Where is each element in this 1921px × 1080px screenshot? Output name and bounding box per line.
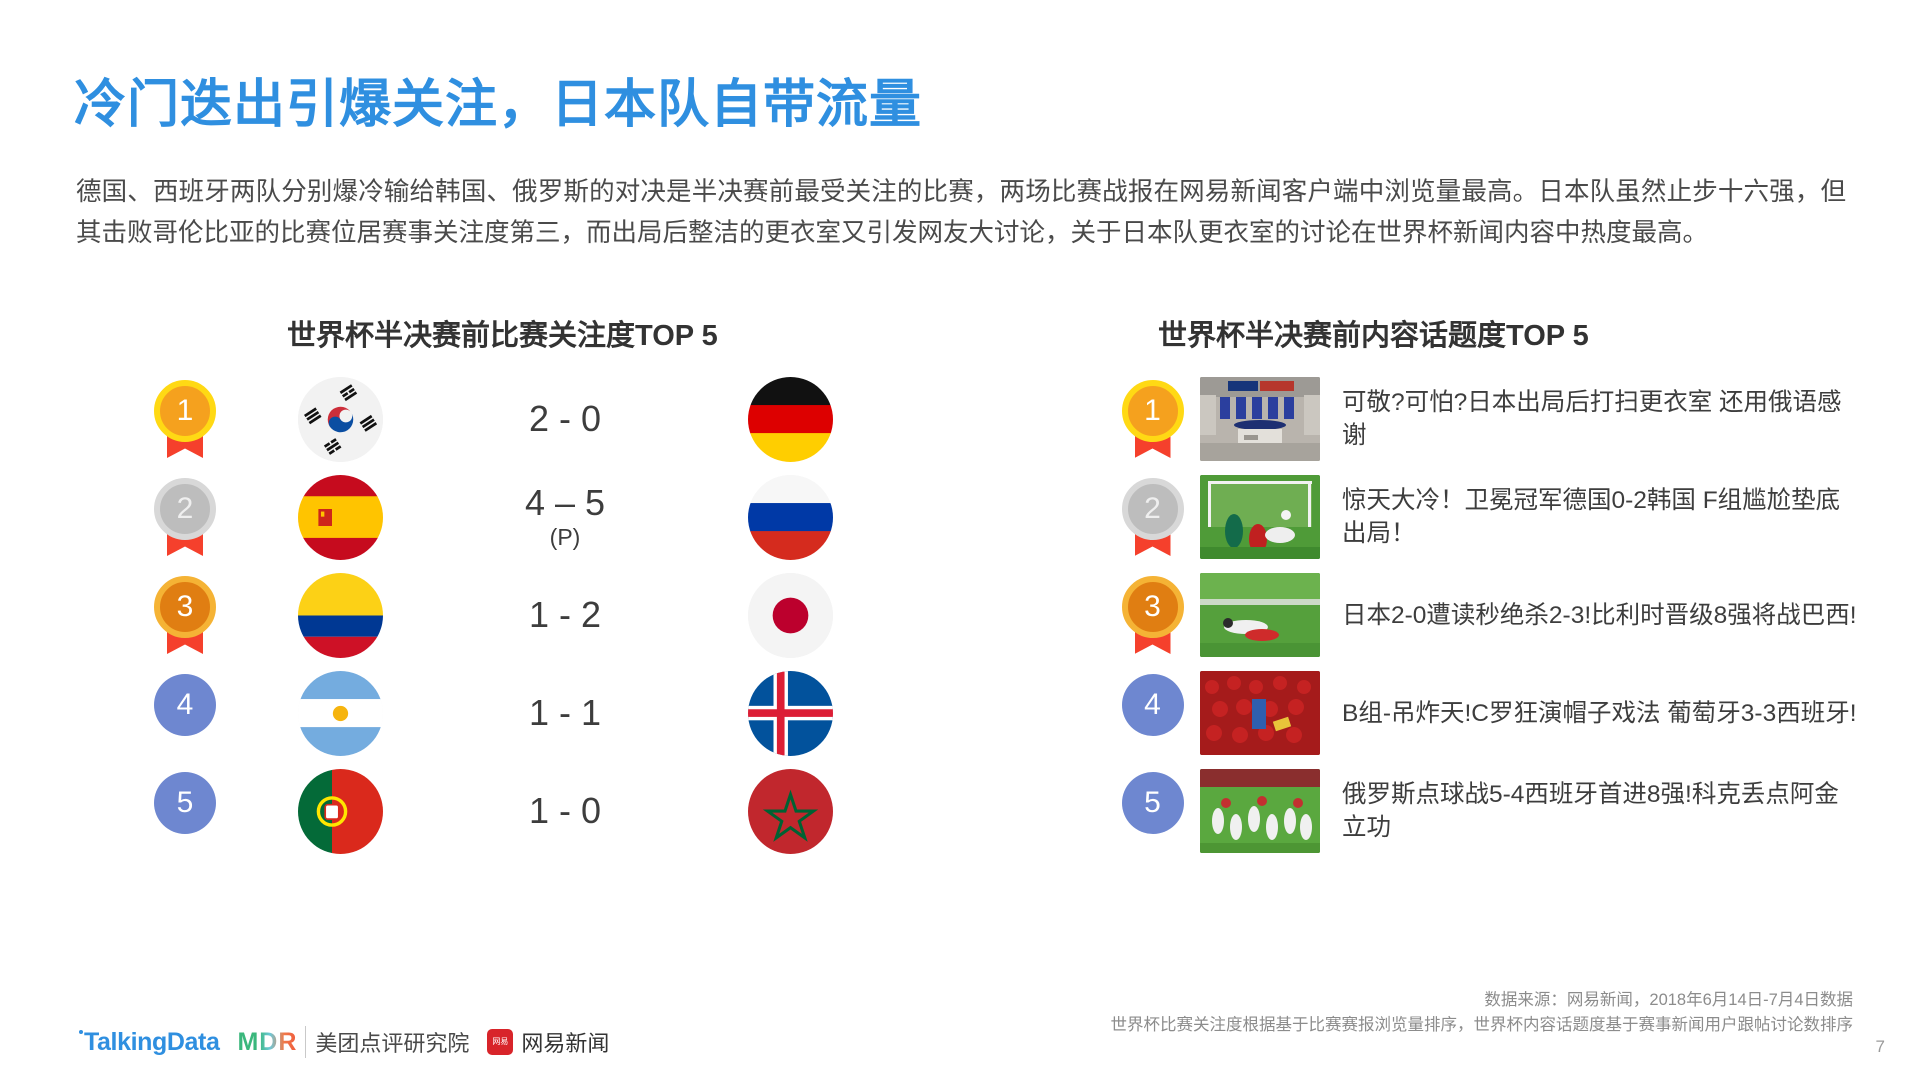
news-thumbnail: [1200, 769, 1320, 853]
rank-number: 3: [154, 576, 216, 638]
score-value: 4 – 5: [525, 482, 605, 523]
away-flag-cell: [690, 769, 890, 854]
home-flag-cell: [240, 377, 440, 462]
rank-badge-2: 2: [154, 478, 216, 556]
logo-bar: TalkingData MDR 美团点评研究院 网易 网易新闻: [84, 1026, 609, 1058]
rank-badge-1: 1: [1122, 380, 1184, 458]
away-flag-cell: [690, 573, 890, 658]
news-headline[interactable]: 可敬?可怕?日本出局后打扫更衣室 还用俄语感谢: [1342, 386, 1862, 452]
match-row: 4 1 - 1: [130, 664, 890, 762]
rank-cell: 2: [1105, 478, 1200, 556]
flag-portugal-icon: [298, 769, 383, 854]
page-title: 冷门迭出引爆关注，日本队自带流量: [74, 62, 922, 137]
rank-number: 2: [1122, 478, 1184, 540]
source-line-2: 世界杯比赛关注度根据基于比赛赛报浏览量排序，世界杯内容话题度基于赛事新闻用户跟帖…: [1111, 1013, 1854, 1038]
match-score: 2 - 0: [440, 400, 690, 439]
away-flag-cell: [690, 377, 890, 462]
flag-germany-icon: [748, 377, 833, 462]
home-flag-cell: [240, 573, 440, 658]
left-column-heading: 世界杯半决赛前比赛关注度TOP 5: [287, 312, 718, 354]
flag-spain-icon: [298, 475, 383, 560]
rank-number: 4: [1122, 674, 1184, 736]
home-flag-cell: [240, 475, 440, 560]
right-column-heading: 世界杯半决赛前内容话题度TOP 5: [1158, 312, 1589, 354]
match-score: 1 - 0: [440, 792, 690, 831]
rank-badge-4: 4: [1122, 674, 1184, 752]
score-value: 2 - 0: [529, 398, 601, 439]
flag-south-korea-icon: [298, 377, 383, 462]
news-thumbnail: [1200, 475, 1320, 559]
news-row[interactable]: 3 日本2-0遭读秒绝杀2-3!比利时晋级8强将战巴西!: [1105, 566, 1895, 664]
flag-iceland-icon: [748, 671, 833, 756]
rank-badge-5: 5: [154, 772, 216, 850]
rank-number: 2: [154, 478, 216, 540]
news-row[interactable]: 2 惊天大冷！卫冕冠军德国0-2韩国 F组尴尬垫底出局！: [1105, 468, 1895, 566]
match-ranking-list: 1 2 - 0 2: [130, 370, 890, 860]
news-headline[interactable]: 俄罗斯点球战5-4西班牙首进8强!科克丢点阿金立功: [1342, 778, 1862, 844]
penalty-note: (P): [440, 525, 690, 550]
rank-badge-3: 3: [1122, 576, 1184, 654]
news-thumbnail: [1200, 377, 1320, 461]
rank-cell: 4: [130, 674, 240, 752]
score-value: 1 - 1: [529, 692, 601, 733]
match-row: 5 1 - 0: [130, 762, 890, 860]
page-subtitle: 德国、西班牙两队分别爆冷输给韩国、俄罗斯的对决是半决赛前最受关注的比赛，两场比赛…: [76, 172, 1846, 254]
rank-badge-5: 5: [1122, 772, 1184, 850]
score-value: 1 - 0: [529, 790, 601, 831]
talkingdata-logo: TalkingData: [84, 1028, 219, 1057]
slide-root: 冷门迭出引爆关注，日本队自带流量 德国、西班牙两队分别爆冷输给韩国、俄罗斯的对决…: [0, 0, 1921, 1080]
source-line-1: 数据来源：网易新闻，2018年6月14日-7月4日数据: [1111, 988, 1854, 1013]
away-flag-cell: [690, 671, 890, 756]
mdr-logo: MDR 美团点评研究院: [237, 1026, 469, 1058]
news-headline[interactable]: 日本2-0遭读秒绝杀2-3!比利时晋级8强将战巴西!: [1342, 599, 1857, 632]
flag-colombia-icon: [298, 573, 383, 658]
rank-number: 5: [154, 772, 216, 834]
news-thumbnail: [1200, 573, 1320, 657]
rank-cell: 5: [130, 772, 240, 850]
match-row: 2 4 – 5 (P): [130, 468, 890, 566]
match-score: 4 – 5 (P): [440, 484, 690, 550]
rank-cell: 3: [1105, 576, 1200, 654]
news-row[interactable]: 4 B组-吊炸天!C罗狂演帽子戏法 葡萄牙3-3西班牙!: [1105, 664, 1895, 762]
news-headline[interactable]: B组-吊炸天!C罗狂演帽子戏法 葡萄牙3-3西班牙!: [1342, 697, 1857, 730]
match-score: 1 - 2: [440, 596, 690, 635]
score-value: 1 - 2: [529, 594, 601, 635]
rank-cell: 1: [130, 380, 240, 458]
mdr-mark: MDR: [237, 1028, 297, 1057]
flag-japan-icon: [748, 573, 833, 658]
mdr-label: 美团点评研究院: [305, 1026, 469, 1058]
rank-number: 1: [1122, 380, 1184, 442]
news-row[interactable]: 5 俄罗斯点球战5-4西班牙首进8强!科克丢点阿金立功: [1105, 762, 1895, 860]
rank-badge-2: 2: [1122, 478, 1184, 556]
rank-badge-1: 1: [154, 380, 216, 458]
flag-russia-icon: [748, 475, 833, 560]
rank-cell: 2: [130, 478, 240, 556]
netease-logo: 网易 网易新闻: [487, 1026, 609, 1058]
match-score: 1 - 1: [440, 694, 690, 733]
flag-morocco-icon: [748, 769, 833, 854]
rank-badge-3: 3: [154, 576, 216, 654]
rank-number: 5: [1122, 772, 1184, 834]
rank-cell: 5: [1105, 772, 1200, 850]
rank-badge-4: 4: [154, 674, 216, 752]
away-flag-cell: [690, 475, 890, 560]
rank-cell: 4: [1105, 674, 1200, 752]
rank-number: 1: [154, 380, 216, 442]
rank-number: 4: [154, 674, 216, 736]
home-flag-cell: [240, 769, 440, 854]
news-headline[interactable]: 惊天大冷！卫冕冠军德国0-2韩国 F组尴尬垫底出局！: [1342, 484, 1862, 550]
news-thumbnail: [1200, 671, 1320, 755]
news-ranking-list: 1 可敬?可怕?日本出局后打扫更衣室 还用俄语感谢 2 惊天: [1105, 370, 1895, 860]
home-flag-cell: [240, 671, 440, 756]
flag-argentina-icon: [298, 671, 383, 756]
match-row: 1 2 - 0: [130, 370, 890, 468]
page-number: 7: [1876, 1037, 1885, 1057]
rank-cell: 1: [1105, 380, 1200, 458]
netease-badge-icon: 网易: [487, 1029, 513, 1055]
news-row[interactable]: 1 可敬?可怕?日本出局后打扫更衣室 还用俄语感谢: [1105, 370, 1895, 468]
rank-number: 3: [1122, 576, 1184, 638]
match-row: 3 1 - 2: [130, 566, 890, 664]
netease-label: 网易新闻: [521, 1026, 609, 1058]
source-note: 数据来源：网易新闻，2018年6月14日-7月4日数据 世界杯比赛关注度根据基于…: [1111, 988, 1854, 1038]
rank-cell: 3: [130, 576, 240, 654]
